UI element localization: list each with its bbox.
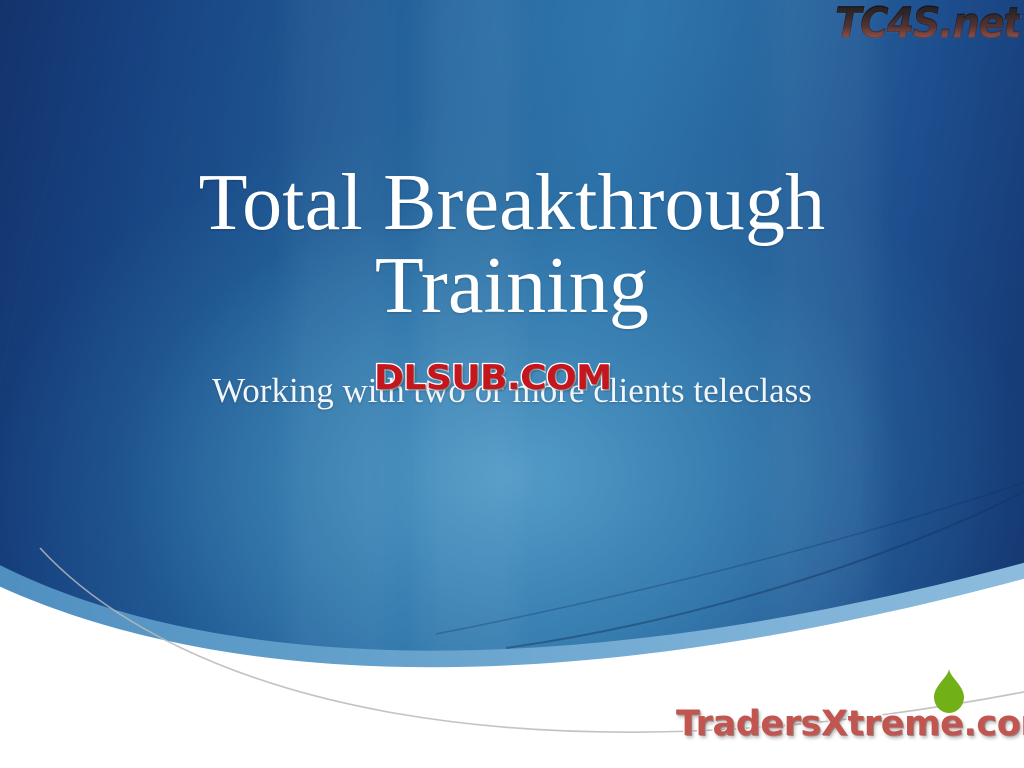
tradersxtreme-logo: TradersXtreme.com — [676, 704, 1024, 744]
slide-title: Total Breakthrough Training — [96, 162, 928, 328]
slide-title-line-2: Training — [96, 245, 928, 328]
slide-title-line-1: Total Breakthrough — [96, 162, 928, 245]
dlsub-com-watermark: DLSUB.COM — [374, 358, 611, 398]
presentation-slide: Total Breakthrough Training Working with… — [0, 0, 1024, 768]
tc4s-net-watermark: TC4S.net — [835, 0, 1020, 47]
